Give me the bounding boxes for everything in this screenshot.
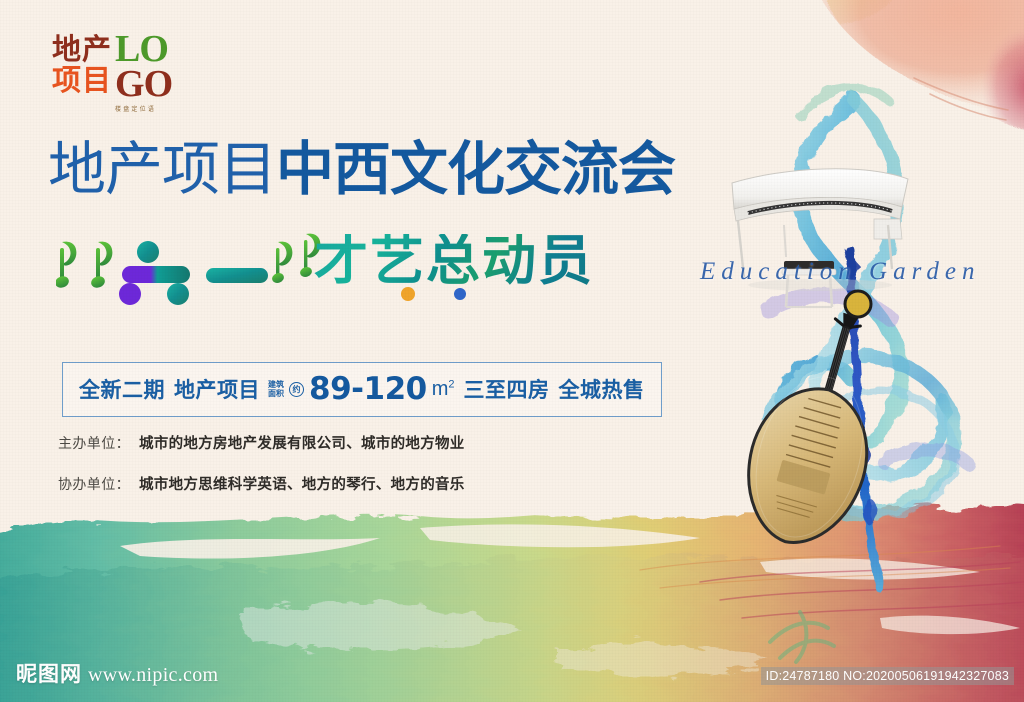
organizer-value-host: 城市的地方房地产发展有限公司、城市的地方物业 [139, 432, 465, 453]
organizer-label-host: 主办单位： [58, 433, 130, 453]
logo-subtitle: 楼盘定位语 [115, 104, 172, 113]
headline-bold: 中西文化交流会 [276, 135, 675, 203]
headline-light: 地产项目 [48, 135, 276, 203]
spec-project: 地产项目 [174, 374, 260, 404]
logo-cn-line2: 项目 [52, 65, 112, 96]
spec-unit-base: m [432, 378, 449, 400]
pipa-headstock [845, 291, 871, 317]
yi-character-glyph [206, 268, 268, 283]
poster-canvas: 地产 项目 LO GO 楼盘定位语 地产项目中西文化交流会 [0, 0, 1024, 702]
logo-en-line2: GO [115, 67, 172, 102]
logo-english: LO GO 楼盘定位语 [115, 32, 172, 113]
spec-phase: 全新二期 [79, 374, 165, 404]
spec-sales: 全城热售 [559, 374, 645, 404]
organizer-row-coorg: 协办单位： 城市地方思维科学英语、地方的琴行、地方的音乐 [58, 473, 465, 494]
organizer-row-host: 主办单位： 城市的地方房地产发展有限公司、城市的地方物业 [58, 432, 465, 453]
organizer-list: 主办单位： 城市的地方房地产发展有限公司、城市的地方物业 协办单位： 城市地方思… [58, 432, 465, 514]
organizer-label-coorg: 协办单位： [58, 474, 130, 494]
deco-headline-text: 才艺总动员 [314, 234, 594, 288]
watermark-id: ID:24787180 NO:20200506191942327083 [761, 667, 1014, 685]
script-tagline: Education Garden [700, 258, 980, 286]
spec-area-label: 建筑 面积 [268, 380, 284, 398]
spec-area-number: 89-120 [309, 371, 427, 407]
music-illustration [704, 60, 1024, 620]
watermark-site: 昵图网 www.nipic.com [16, 658, 218, 688]
spec-banner: 全新二期 地产项目 建筑 面积 约 89-120 m2 三至四房 全城热售 [62, 362, 662, 417]
spec-approx-badge: 约 [289, 382, 304, 397]
page-title: 地产项目中西文化交流会 [48, 140, 675, 198]
brand-logo[interactable]: 地产 项目 LO GO 楼盘定位语 [52, 34, 172, 113]
watermark-site-cn: 昵图网 [16, 658, 82, 688]
logo-en-line1: LO [115, 32, 172, 67]
spec-area-label-2: 面积 [268, 389, 284, 398]
music-note-icon-2 [90, 242, 113, 290]
deco-headline: 才艺总动员 [56, 228, 576, 320]
organizer-value-coorg: 城市地方思维科学英语、地方的琴行、地方的音乐 [139, 473, 465, 494]
logo-chinese: 地产 项目 [52, 34, 112, 97]
music-note-icon-3 [271, 242, 293, 285]
music-note-icon [56, 242, 76, 290]
watermark-site-url: www.nipic.com [88, 664, 218, 687]
spec-rooms: 三至四房 [464, 374, 550, 404]
logo-cn-line1: 地产 [52, 34, 112, 65]
spec-area-label-1: 建筑 [268, 380, 284, 389]
spec-unit-sup: 2 [448, 378, 454, 390]
spec-area-unit: m2 [432, 378, 455, 401]
liu-character-glyph [119, 241, 190, 305]
